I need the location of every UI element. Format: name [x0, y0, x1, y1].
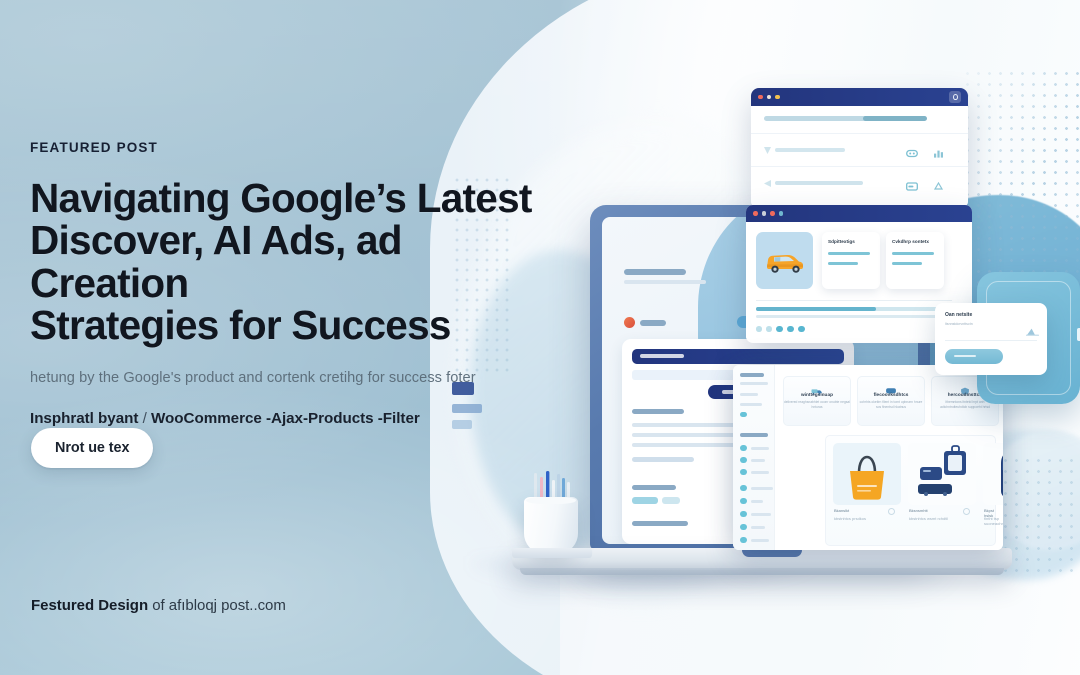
shipping-truck-icon [812, 382, 823, 390]
placeholder-bar [775, 181, 863, 185]
pagination-dot-active[interactable] [776, 326, 783, 333]
maximize-dot-icon[interactable] [775, 95, 780, 100]
filter-label [751, 447, 769, 450]
tag-chip[interactable] [662, 497, 680, 504]
chevron-down-icon [764, 147, 771, 154]
feature-card-title: winttegsmuap [784, 392, 850, 397]
browser-window-grid: winttegsmuap delivered reaghsnabhlet oco… [733, 365, 1003, 550]
product-name: Bkanslkt [834, 508, 849, 513]
eyebrow-label: FEATURED POST [30, 140, 550, 155]
placeholder-bar [892, 262, 922, 265]
checkbox[interactable] [740, 498, 747, 504]
pencil-cup-shadow [512, 548, 592, 558]
cloud-upload-icon[interactable] [933, 178, 944, 196]
post-meta: Insphratl byant / WooCommerce -Ajax-Prod… [30, 410, 550, 427]
filter-label [751, 513, 771, 516]
product-image-luggage[interactable] [908, 443, 976, 505]
feature-card-title: flecoovksdhtcs [858, 392, 924, 397]
main-content: winttegsmuap delivered reaghsnabhlet oco… [775, 365, 1003, 550]
info-card: Sdpittextigs [822, 232, 880, 289]
feature-card[interactable]: flecoovksdhtcs cohrhts oketlrn fllent in… [857, 376, 925, 426]
filter-label [751, 459, 765, 462]
placeholder-line [740, 393, 758, 396]
pencil-cup [524, 497, 578, 553]
chevron-left-icon [764, 180, 771, 187]
pagination-dot-active[interactable] [798, 326, 805, 333]
orange-car-icon [763, 250, 807, 274]
pagination-dot[interactable] [756, 326, 762, 332]
placeholder-bar [775, 148, 845, 152]
pagination-dots[interactable] [756, 326, 805, 333]
tag-chip[interactable] [632, 497, 658, 504]
info-card-title: Cvkdhrp sontetx [892, 239, 938, 244]
section-heading [632, 409, 684, 414]
floating-card-button[interactable] [945, 349, 1003, 364]
sidebar-section-heading [740, 433, 768, 437]
placeholder-username [640, 320, 666, 326]
placeholder-bar [828, 252, 870, 255]
floating-detail-card: Oan netsite ltsnnstdcrvnttsctn [935, 303, 1047, 375]
window-row [751, 134, 968, 167]
placeholder-subtitle [624, 280, 706, 284]
checkbox[interactable] [740, 524, 747, 530]
highlighted-row [632, 349, 844, 364]
floating-card-subtitle: ltsnnstdcrvnttsctn [945, 322, 1037, 326]
product-image [756, 232, 813, 289]
close-dot-icon[interactable] [753, 211, 758, 216]
product-image-backpack[interactable] [983, 443, 1003, 505]
placeholder-title [624, 269, 686, 275]
section-heading [632, 485, 676, 490]
product-name: Bksnsmhtt [909, 508, 928, 513]
product-price: flntht tsp suoneaohntdktts [984, 516, 1003, 526]
placeholder-bar [756, 315, 952, 318]
post-author[interactable]: Insphratl byant [30, 410, 138, 427]
browser-window-top [751, 88, 968, 206]
filter-label [751, 487, 773, 490]
checkbox[interactable] [740, 511, 747, 517]
placeholder-bar [892, 252, 934, 255]
filter-label [751, 471, 769, 474]
feature-card[interactable]: winttegsmuap delivered reaghsnabhlet oco… [783, 376, 851, 426]
product-grid: Bkanslkt kbstnhtcs prsdkos Bksnsmhtt kbs… [825, 435, 996, 546]
headline-line-1: Navigating Google’s Latest [30, 177, 550, 219]
info-card-title: Sdpittextigs [828, 239, 874, 244]
laptop-foot [520, 568, 1004, 575]
feature-card-subtitle: delivered reaghsnabhlet oconr onubte neg… [784, 400, 850, 410]
pagination-dot-active[interactable] [787, 326, 794, 333]
placeholder-bar [828, 262, 858, 265]
sidebar [733, 365, 775, 550]
product-price: kbstnhtcs prsdkos [834, 516, 866, 521]
support-chat-icon [886, 382, 897, 390]
checkbox[interactable] [740, 457, 747, 463]
floating-card-title: Oan netsite [945, 312, 1037, 318]
cta-button[interactable]: Nrot ue tex [31, 428, 153, 468]
hero-copy: FEATURED POST Navigating Google’s Latest… [30, 140, 550, 427]
section-heading [632, 521, 688, 526]
filter-label [751, 526, 765, 529]
placeholder-line [740, 382, 768, 385]
footer-credit-rest: of afıbloqj post..com [148, 597, 286, 614]
divider [756, 300, 952, 301]
shield-icon [949, 91, 961, 103]
page-title: Navigating Google’s Latest Discover, AI … [30, 177, 550, 346]
product-image-tote[interactable] [833, 443, 901, 505]
divider [945, 340, 1037, 341]
checkbox[interactable] [740, 537, 747, 543]
feature-card-subtitle: cohrhts oketlrn fllent in tomt upbnarn h… [858, 400, 924, 410]
subheadline: hetung by the Google's product and corte… [30, 369, 550, 389]
wishlist-icon[interactable] [888, 508, 895, 515]
minimize-dot-icon[interactable] [767, 95, 772, 100]
chart-icon[interactable] [933, 145, 944, 163]
card-icon[interactable] [906, 178, 918, 196]
avatar [624, 317, 635, 328]
status-dot-icon[interactable] [779, 211, 784, 216]
wishlist-icon[interactable] [963, 508, 970, 515]
window-row [751, 106, 968, 134]
record-dot-icon[interactable] [770, 211, 775, 216]
upload-cloud-icon[interactable] [1026, 323, 1037, 331]
link-icon[interactable] [906, 145, 918, 163]
product-price: kbstnhtcs wsmt rchdtll [909, 516, 948, 521]
placeholder-text [640, 354, 684, 358]
checkbox[interactable] [740, 412, 747, 417]
info-card: Cvkdhrp sontetx [886, 232, 944, 289]
secure-lock-icon [960, 382, 971, 390]
close-dot-icon[interactable] [758, 95, 763, 100]
window-row [751, 167, 968, 200]
post-category[interactable]: WooCommerce -Ajax-Products -Filter [151, 410, 420, 427]
placeholder-bar-filled [863, 116, 927, 121]
window-titlebar [751, 88, 968, 106]
filter-label [751, 539, 769, 542]
footer-credit: Festured Design of afıbloqj post..com [31, 597, 286, 614]
meta-separator: / [143, 410, 147, 427]
window-titlebar [746, 205, 972, 222]
minimize-dot-icon[interactable] [762, 211, 767, 216]
filter-label [751, 500, 763, 503]
checkbox[interactable] [740, 445, 747, 451]
pagination-dot[interactable] [766, 326, 772, 332]
checkbox[interactable] [740, 485, 747, 491]
hero-banner: Sdpittextigs Cvkdhrp sontetx [0, 0, 1080, 675]
placeholder-line [632, 457, 694, 462]
headline-line-2: Discover, AI Ads, ad Creation [30, 219, 550, 304]
checkbox[interactable] [740, 469, 747, 475]
sidebar-heading [740, 373, 764, 377]
placeholder-line [740, 403, 762, 406]
progress-fill [756, 307, 876, 311]
headline-line-3: Strategies for Success [30, 304, 550, 346]
footer-credit-bold: Festured Design [31, 597, 148, 614]
